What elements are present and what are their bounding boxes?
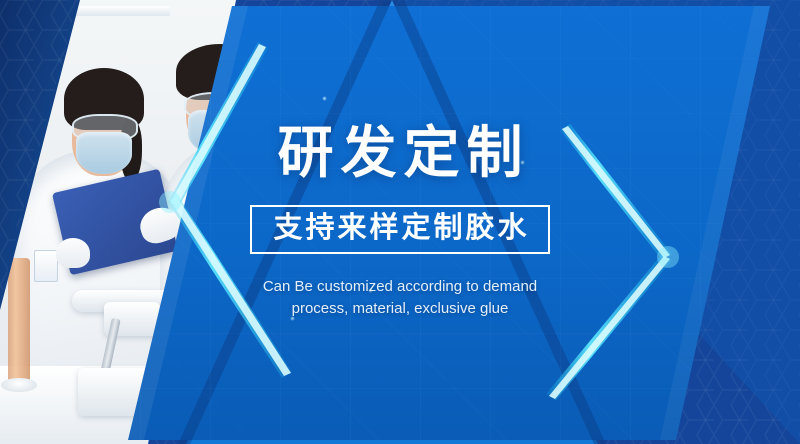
- tagline-line-1: Can Be customized according to demand: [263, 276, 537, 297]
- boxed-subtitle: 支持来样定制胶水: [250, 205, 549, 254]
- promo-banner: 研发定制 支持来样定制胶水 Can Be customized accordin…: [0, 0, 800, 444]
- banner-text-content: 研发定制 支持来样定制胶水 Can Be customized accordin…: [0, 0, 800, 444]
- tagline-line-2: process, material, exclusive glue: [263, 298, 537, 319]
- boxed-subtitle-text: 支持来样定制胶水: [270, 213, 529, 243]
- headline: 研发定制: [271, 125, 530, 181]
- tagline: Can Be customized according to demand pr…: [263, 276, 537, 319]
